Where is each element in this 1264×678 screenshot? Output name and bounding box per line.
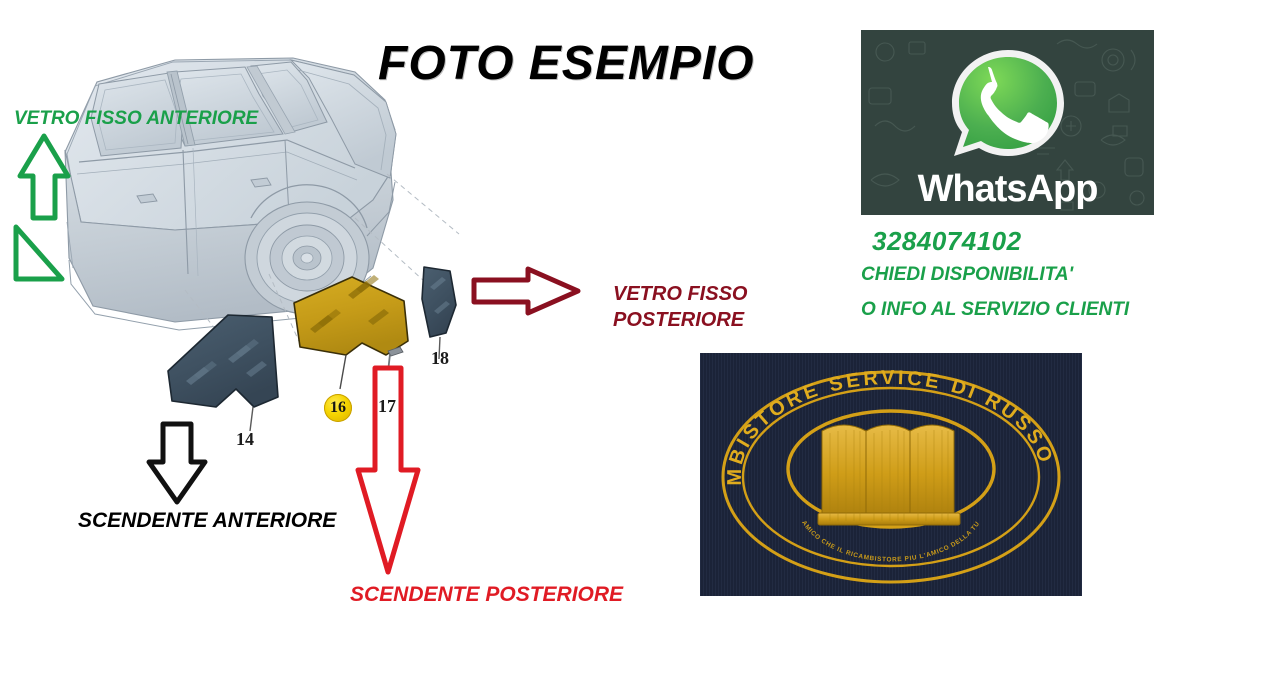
part-number-16-badge: 16	[324, 394, 352, 422]
label-vetro-fisso-anteriore: VETRO FISSO ANTERIORE	[14, 108, 258, 130]
part-number-18: 18	[431, 348, 449, 369]
shop-logo: MRICAMBISTORE SERVICE DI RUSSO MARCO IL …	[700, 353, 1082, 596]
glass-part-14	[168, 315, 278, 431]
page-title: FOTO ESEMPIO	[378, 36, 798, 91]
glass-part-17	[387, 347, 403, 381]
whatsapp-wordmark: WhatsApp	[861, 168, 1154, 211]
whatsapp-cta-line2: O INFO AL SERVIZIO CLIENTI	[861, 299, 1129, 321]
label-scendente-posteriore: SCENDENTE POSTERIORE	[350, 583, 623, 607]
glass-part-16	[294, 275, 408, 389]
label-scendente-anteriore: SCENDENTE ANTERIORE	[78, 509, 336, 533]
whatsapp-logo-icon	[938, 44, 1078, 168]
label-vetro-fisso-posteriore: VETRO FISSO POSTERIORE	[613, 281, 747, 333]
label-vfp-line2: POSTERIORE	[613, 307, 747, 333]
part-number-16-label: 16	[330, 400, 346, 416]
glass-part-18	[422, 267, 456, 359]
part-number-17: 17	[378, 396, 396, 417]
label-vfp-line1: VETRO FISSO	[613, 281, 747, 307]
whatsapp-card: WhatsApp	[861, 30, 1154, 215]
part-number-14: 14	[236, 429, 254, 450]
whatsapp-phone-number: 3284074102	[872, 226, 1022, 257]
whatsapp-cta-line1: CHIEDI DISPONIBILITA'	[861, 264, 1073, 286]
